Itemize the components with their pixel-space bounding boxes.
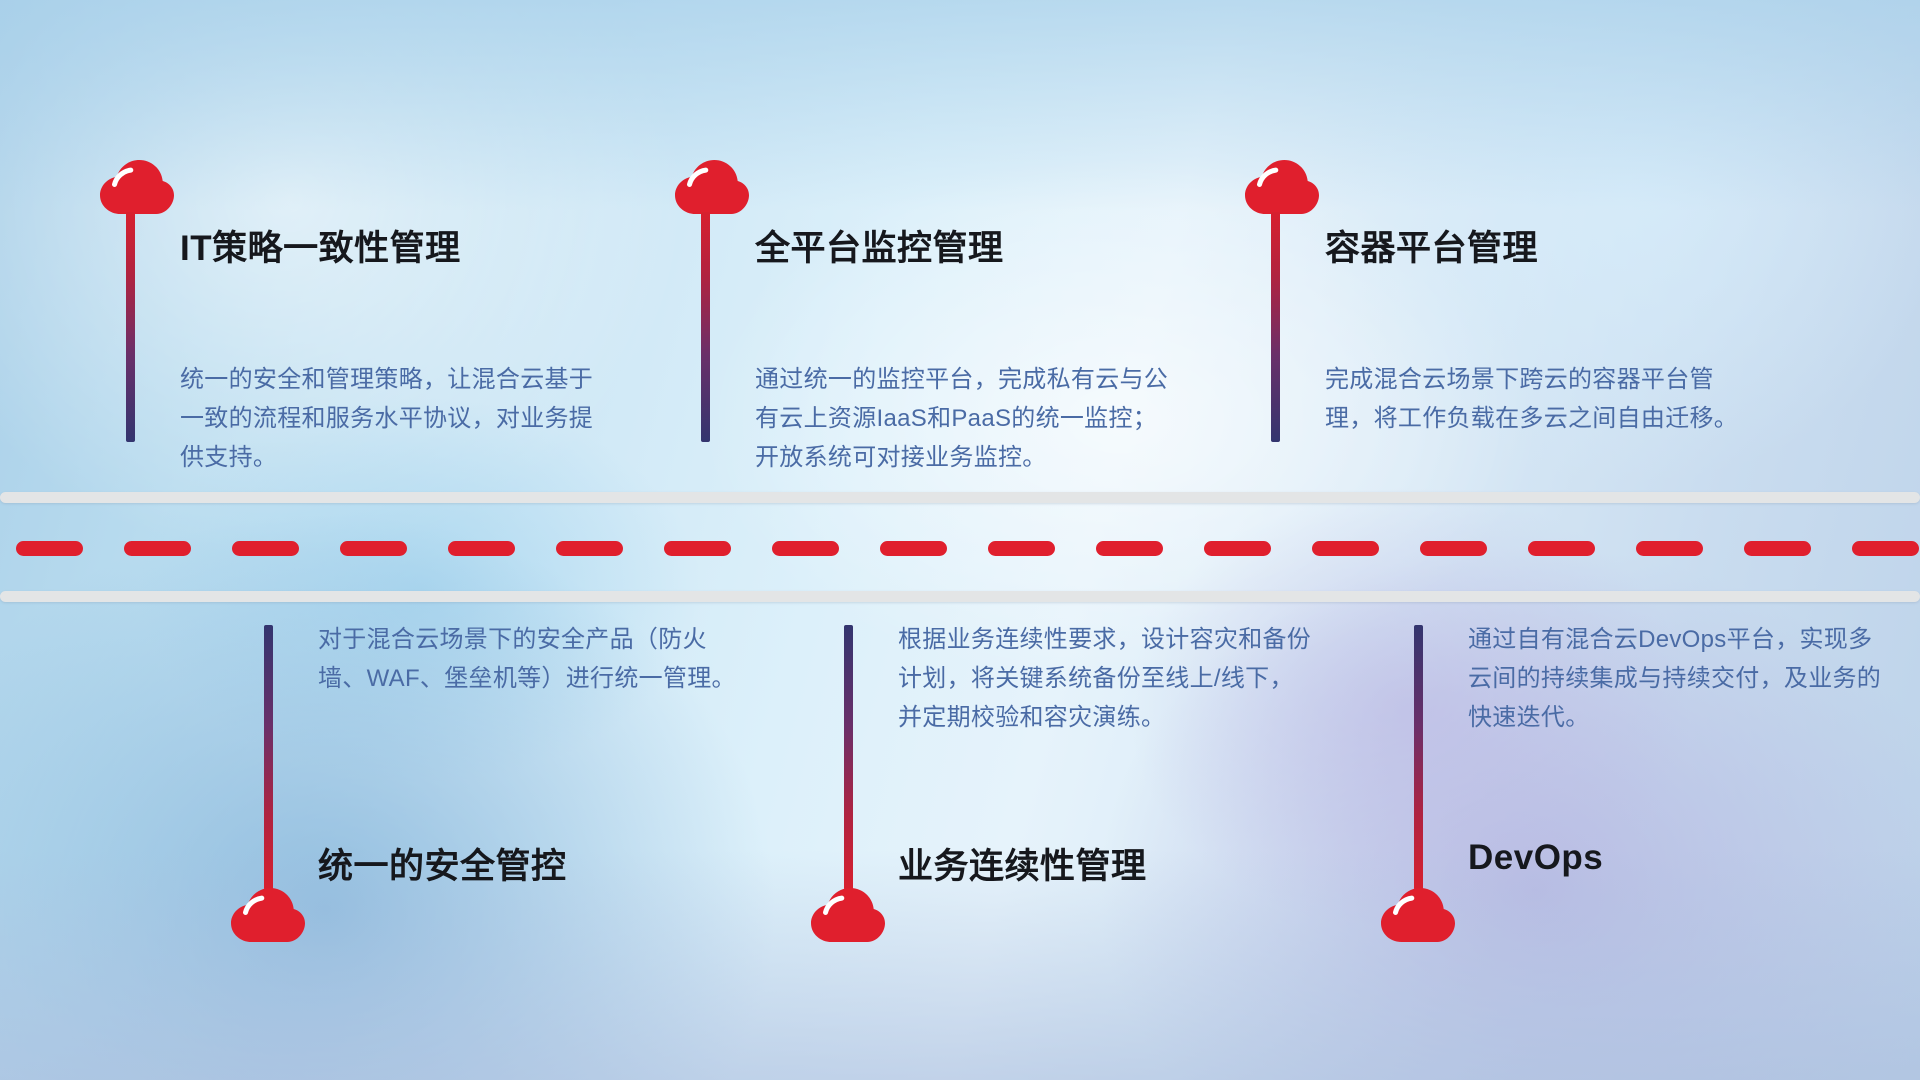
road-divider [0, 492, 1920, 602]
road-dash [340, 541, 407, 556]
road-rail-bottom [0, 591, 1920, 602]
feature-description: 对于混合云场景下的安全产品（防火墙、WAF、堡垒机等）进行统一管理。 [318, 620, 738, 698]
road-dash [1420, 541, 1487, 556]
road-dash [772, 541, 839, 556]
feature-title: 业务连续性管理 [898, 838, 1147, 889]
cloud-icon [811, 888, 885, 944]
feature-title: DevOps [1468, 838, 1603, 878]
road-dash [448, 541, 515, 556]
feature-description: 统一的安全和管理策略，让混合云基于一致的流程和服务水平协议，对业务提供支持。 [180, 360, 600, 477]
road-dash [880, 541, 947, 556]
feature-title: 容器平台管理 [1325, 220, 1538, 271]
road-dash [1528, 541, 1595, 556]
connector-stem [701, 212, 710, 442]
connector-stem [264, 625, 273, 890]
road-dash [16, 541, 83, 556]
feature-title: 全平台监控管理 [755, 220, 1004, 271]
feature-description: 根据业务连续性要求，设计容灾和备份计划，将关键系统备份至线上/线下，并定期校验和… [898, 620, 1318, 737]
road-dash [1852, 541, 1919, 556]
road-dash [124, 541, 191, 556]
road-dash [232, 541, 299, 556]
road-dash [1204, 541, 1271, 556]
cloud-icon [100, 160, 174, 216]
road-dash [1312, 541, 1379, 556]
cloud-icon [1381, 888, 1455, 944]
road-dash [1744, 541, 1811, 556]
feature-description: 完成混合云场景下跨云的容器平台管理，将工作负载在多云之间自由迁移。 [1325, 360, 1745, 438]
feature-title: IT策略一致性管理 [180, 220, 461, 271]
feature-description: 通过统一的监控平台，完成私有云与公有云上资源IaaS和PaaS的统一监控；开放系… [755, 360, 1175, 477]
cloud-icon [1245, 160, 1319, 216]
road-dash [988, 541, 1055, 556]
feature-description: 通过自有混合云DevOps平台，实现多云间的持续集成与持续交付，及业务的快速迭代… [1468, 620, 1888, 737]
road-dash [1096, 541, 1163, 556]
connector-stem [844, 625, 853, 890]
connector-stem [1414, 625, 1423, 890]
feature-title: 统一的安全管控 [318, 838, 567, 889]
connector-stem [1271, 212, 1280, 442]
cloud-icon [675, 160, 749, 216]
road-rail-top [0, 492, 1920, 503]
infographic-canvas: IT策略一致性管理 统一的安全和管理策略，让混合云基于一致的流程和服务水平协议，… [0, 0, 1920, 1080]
connector-stem [126, 212, 135, 442]
road-dashed-centerline [0, 540, 1920, 556]
road-dash [664, 541, 731, 556]
road-dash [556, 541, 623, 556]
cloud-icon [231, 888, 305, 944]
background-top-strip [0, 0, 1920, 210]
road-dash [1636, 541, 1703, 556]
